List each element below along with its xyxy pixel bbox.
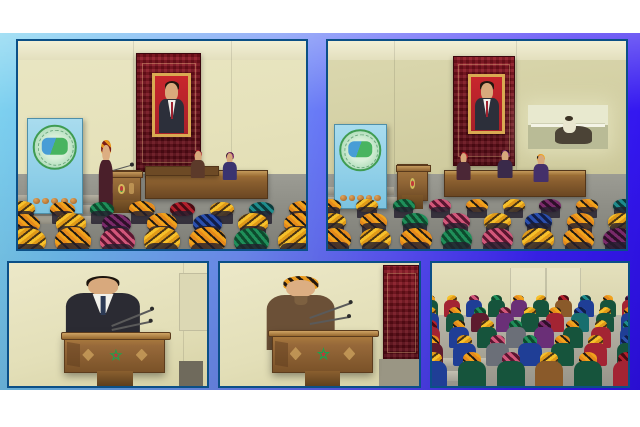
photo-collage <box>0 0 640 427</box>
head <box>286 280 316 297</box>
side-furniture <box>379 359 419 386</box>
tribune <box>272 332 374 373</box>
portrait-head <box>481 83 493 99</box>
body <box>191 160 205 177</box>
portrait-shirt <box>483 99 490 115</box>
audience-row <box>432 307 628 316</box>
photo-panel-bottom-middle[interactable] <box>218 261 421 388</box>
audience <box>328 174 626 249</box>
audience-row <box>432 352 628 365</box>
audience-row <box>432 335 628 346</box>
photo-panel-top-right[interactable] <box>326 39 628 251</box>
audience-row <box>328 213 626 230</box>
presidential-portrait <box>152 73 191 137</box>
audience-row <box>328 228 626 249</box>
auditorium-wide-left-scene <box>18 41 306 249</box>
female-speaker <box>286 280 316 314</box>
presidium-person <box>222 153 236 178</box>
photo-panel-bottom-left[interactable] <box>7 261 209 388</box>
audience-hall-scene <box>432 263 628 386</box>
tribune-ornament <box>82 349 94 362</box>
tribune-ornament <box>136 349 148 362</box>
presidential-portrait <box>468 74 505 134</box>
photo-panel-bottom-right[interactable] <box>430 261 630 388</box>
body <box>222 162 236 179</box>
tie <box>101 296 106 315</box>
collage-frame <box>0 33 640 390</box>
portrait-hair <box>480 81 494 90</box>
tribune-ornament <box>290 347 302 360</box>
audience <box>18 178 306 249</box>
tribune-side-panel <box>67 342 80 367</box>
photo-panel-top-left[interactable] <box>16 39 308 251</box>
presidium-person <box>191 151 205 176</box>
portrait-shirt <box>168 100 176 117</box>
female-speaker-closeup-scene <box>220 263 419 386</box>
tribune-emblem <box>109 349 123 362</box>
banner-emblem <box>340 129 381 170</box>
head <box>88 278 118 295</box>
audience-row <box>432 320 628 330</box>
side-furniture <box>179 361 203 386</box>
portrait-hair <box>165 81 179 90</box>
tribune-base <box>305 371 341 386</box>
presidium-person <box>498 151 513 176</box>
portrait-tie <box>171 102 173 119</box>
banner-emblem <box>33 125 77 169</box>
tribune-top <box>268 330 379 338</box>
audience <box>432 295 628 379</box>
door-frame <box>179 273 207 332</box>
portrait-suit <box>475 98 499 129</box>
auditorium-wide-right-scene <box>328 41 626 249</box>
tribune-side-panel <box>275 340 288 367</box>
tribune-emblem <box>317 347 331 361</box>
portrait-tie <box>486 101 488 117</box>
red-carpet <box>383 265 419 360</box>
male-speaker <box>88 278 118 315</box>
collar <box>294 296 307 305</box>
portrait-suit <box>159 99 184 133</box>
audience-row <box>18 227 306 249</box>
tribune-top <box>396 165 430 173</box>
tribune-ornament <box>343 347 355 360</box>
portrait-head <box>165 83 178 100</box>
tribune <box>64 334 165 373</box>
audience-row <box>432 295 628 303</box>
projector-screen <box>528 105 608 149</box>
audience-row <box>328 199 626 212</box>
male-speaker-closeup-scene <box>9 263 207 386</box>
tribune-base <box>97 371 133 386</box>
table-back-panel <box>145 166 219 176</box>
tribune-top <box>61 332 172 339</box>
projection-rider-helmet <box>565 116 573 121</box>
